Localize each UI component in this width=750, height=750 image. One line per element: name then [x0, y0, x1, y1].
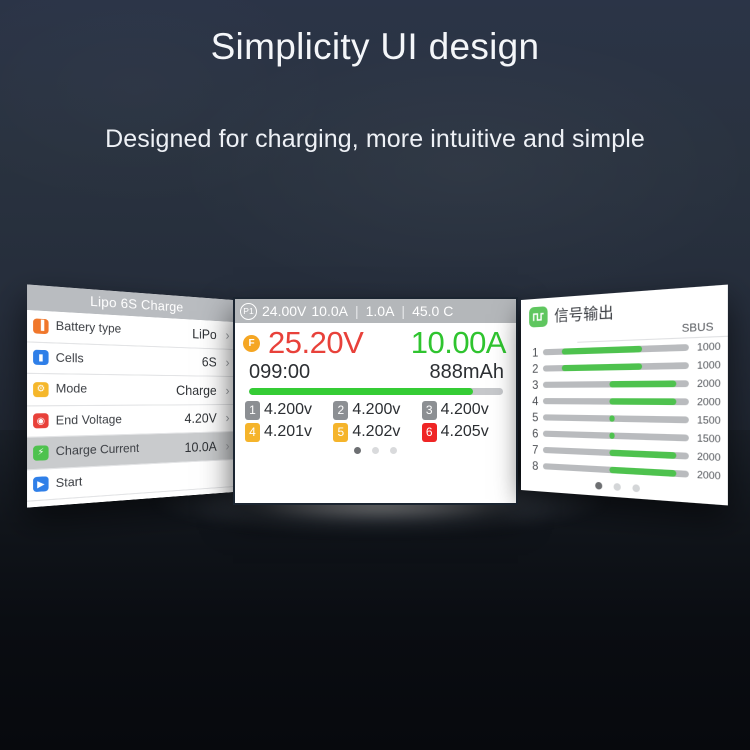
chevron-right-icon: ›: [221, 327, 229, 342]
channel-row-3: 32000: [521, 374, 728, 393]
cell-voltage-item: 34.200v: [422, 401, 508, 420]
settings-row-value: 6S: [202, 354, 217, 370]
cell-index-badge: 5: [333, 423, 348, 442]
right-device-screen: 信号输出 SBUS 110002100032000420005150061500…: [521, 285, 728, 506]
program-badge: P1: [240, 303, 257, 320]
chevron-right-icon: ›: [221, 383, 229, 398]
cell-voltage-item: 64.205v: [422, 423, 508, 442]
cell-index-badge: 1: [245, 401, 260, 420]
channel-list: 1100021000320004200051500615007200082000: [521, 337, 728, 486]
mode-icon: ⚙: [33, 382, 49, 397]
channel-fill: [609, 467, 676, 477]
chevron-right-icon: ›: [221, 410, 229, 425]
cell-voltage-grid: 14.200v24.200v34.200v44.201v54.202v64.20…: [235, 395, 516, 442]
mode-badge-icon: F: [243, 335, 260, 352]
cell-voltage-value: 4.205v: [441, 423, 489, 441]
channel-track: [543, 380, 689, 388]
settings-row-label: Charge Current: [56, 441, 185, 459]
chevron-right-icon: ›: [221, 355, 229, 370]
settings-list: ▐Battery typeLiPo›▮Cells6S›⚙ModeCharge›◉…: [27, 310, 234, 502]
cells-icon: ▮: [33, 350, 49, 365]
status-separator-2: |: [399, 303, 407, 319]
page-dot[interactable]: [372, 447, 379, 454]
settings-row-value: Charge: [176, 382, 217, 398]
channel-track: [543, 398, 689, 405]
voltage-readout: 25.20V: [268, 327, 363, 360]
channel-number: 8: [530, 458, 538, 473]
main-readout-row: F 25.20V 10.00A: [235, 323, 516, 360]
status-current: 10.0A: [311, 303, 348, 319]
channel-number: 5: [530, 410, 538, 424]
charge-progress-fill: [249, 388, 473, 395]
channel-fill: [562, 363, 642, 371]
cell-voltage-item: 24.200v: [333, 401, 419, 420]
channel-value: 1500: [695, 414, 721, 426]
channel-fill: [609, 432, 615, 439]
settings-row-value: 4.20V: [185, 410, 217, 426]
channel-track: [543, 362, 689, 371]
settings-row-label: Battery type: [56, 320, 193, 340]
channel-number: 6: [530, 426, 538, 440]
cell-index-badge: 4: [245, 423, 260, 442]
cell-voltage-value: 4.200v: [352, 401, 400, 419]
page-dot[interactable]: [390, 447, 397, 454]
page-dot[interactable]: [613, 483, 620, 491]
settings-row-label: Mode: [56, 383, 176, 397]
cell-index-badge: 6: [422, 423, 437, 442]
channel-value: 2000: [695, 378, 721, 390]
settings-row-value: LiPo: [192, 326, 216, 343]
status-bar: P1 24.00V 10.0A | 1.0A | 45.0 C: [235, 299, 516, 323]
page-dot[interactable]: [595, 482, 602, 490]
channel-value: 1500: [695, 433, 721, 445]
channel-number: 4: [530, 394, 538, 408]
cell-voltage-value: 4.200v: [264, 401, 312, 419]
current-readout: 10.00A: [411, 327, 506, 360]
channel-value: 2000: [695, 451, 721, 464]
channel-number: 3: [530, 378, 538, 392]
settings-row-label: Cells: [56, 351, 202, 368]
cell-voltage-value: 4.201v: [264, 423, 312, 441]
cell-voltage-item: 14.200v: [245, 401, 331, 420]
status-temperature: 45.0 C: [412, 303, 453, 319]
promo-stage: Simplicity UI design Designed for chargi…: [0, 0, 750, 750]
channel-fill: [562, 346, 642, 355]
cell-voltage-item: 54.202v: [333, 423, 419, 442]
page-dot[interactable]: [354, 447, 361, 454]
settings-row-mode[interactable]: ⚙ModeCharge›: [27, 374, 234, 406]
center-page-dots[interactable]: [235, 442, 516, 454]
elapsed-time: 099:00: [249, 361, 310, 384]
channel-fill: [609, 380, 676, 387]
left-device-screen: Lipo 6S Charge ▐Battery typeLiPo›▮Cells6…: [27, 284, 234, 507]
channel-value: 1000: [695, 341, 721, 353]
cell-index-badge: 2: [333, 401, 348, 420]
channel-track: [543, 431, 689, 442]
channel-value: 2000: [695, 396, 721, 408]
cell-voltage-item: 44.201v: [245, 423, 331, 442]
channel-number: 1: [530, 345, 538, 359]
settings-row-label: End Voltage: [56, 412, 185, 427]
channel-track: [543, 447, 689, 460]
charge-current-icon: ⚡: [33, 445, 49, 461]
center-device-screen: P1 24.00V 10.0A | 1.0A | 45.0 C F 25.20V…: [233, 297, 518, 505]
chevron-right-icon: ›: [221, 438, 229, 453]
channel-value: 1000: [695, 359, 721, 371]
cell-voltage-value: 4.202v: [352, 423, 400, 441]
cell-index-badge: 3: [422, 401, 437, 420]
page-dot[interactable]: [632, 484, 639, 492]
channel-fill: [609, 415, 615, 422]
end-voltage-icon: ◉: [33, 413, 49, 428]
channel-value: 2000: [695, 469, 721, 482]
charge-progress-bar: [249, 388, 503, 395]
capacity-readout: 888mAh: [430, 361, 505, 384]
channel-fill: [609, 398, 676, 405]
settings-row-label: Start: [56, 468, 217, 491]
cell-voltage-value: 4.200v: [441, 401, 489, 419]
channel-track: [543, 414, 689, 423]
channel-track: [543, 344, 689, 355]
channel-number: 2: [530, 362, 538, 376]
channel-fill: [609, 450, 676, 459]
status-discharge-current: 1.0A: [366, 303, 395, 319]
signal-output-title: 信号输出: [554, 301, 613, 327]
time-capacity-row: 099:00 888mAh: [235, 360, 516, 384]
settings-row-value: 10.0A: [185, 438, 217, 455]
start-icon: ▶: [33, 476, 49, 492]
page-subtitle: Designed for charging, more intuitive an…: [0, 125, 750, 154]
pulse-wave-icon: [529, 306, 547, 327]
status-separator-1: |: [353, 303, 361, 319]
battery-icon: ▐: [33, 318, 49, 334]
status-voltage: 24.00V: [262, 303, 306, 319]
page-title: Simplicity UI design: [0, 26, 750, 68]
channel-number: 7: [530, 442, 538, 456]
